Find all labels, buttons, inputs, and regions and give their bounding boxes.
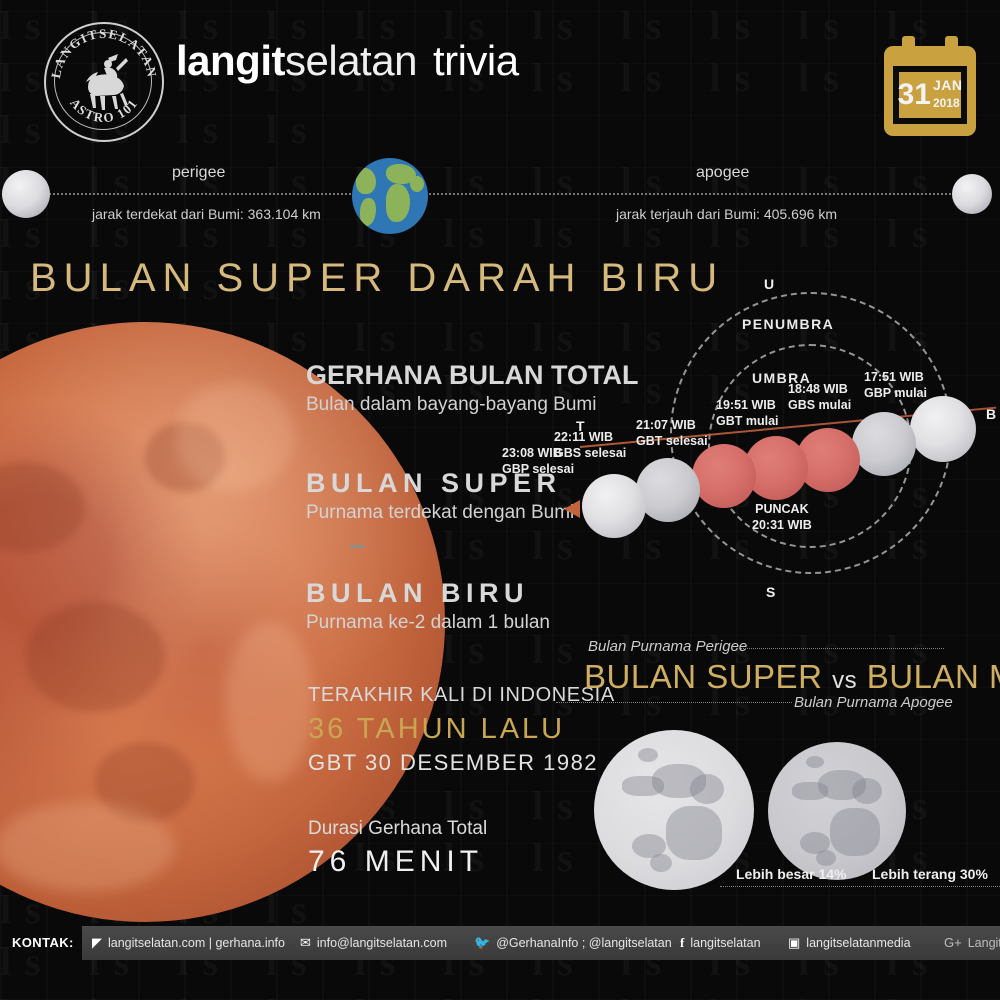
footer-item-googleplus[interactable]: G+ LangitselatanMedia (944, 935, 1000, 950)
cardinal-south: S (766, 584, 775, 600)
kontak-label: KONTAK: (12, 935, 74, 950)
twitter-icon: 🐦 (474, 935, 490, 951)
svm-top-caption: Bulan Purnama Perigee (588, 638, 747, 655)
footer-item-website[interactable]: ◤ langitselatan.com | gerhana.info (92, 935, 285, 951)
footer-twitter-text: @GerhanaInfo ; @langitselatan (496, 936, 671, 950)
super-vs-mini-section: Bulan Purnama Perigee BULAN SUPER vs BUL… (556, 636, 1000, 906)
calendar-icon: 31 JAN 2018 (884, 36, 976, 136)
calendar-month: JAN (933, 77, 963, 93)
facebook-icon: f (680, 935, 684, 951)
eclipse-path-diagram: U S B T PENUMBRA UMBRA 17:51 WIBGBP mula… (556, 278, 1000, 608)
calendar-date-plate: 31 JAN 2018 (899, 72, 961, 118)
brand-trivia: trivia (433, 37, 519, 84)
mail-icon: ✉ (300, 935, 311, 951)
calendar-month-year: JAN 2018 (933, 78, 963, 112)
header: LANGITSELATAN ASTRO 101 la (0, 0, 1000, 148)
footer-website-text: langitselatan.com | gerhana.info (108, 936, 285, 950)
fact-2-sub: Purnama ke-2 dalam 1 bulan (306, 612, 550, 634)
stat-brightness: Lebih terang 30% (872, 866, 988, 882)
footer-item-instagram[interactable]: ▣ langitselatanmedia (788, 935, 911, 951)
eclipse-label-19-51: 19:51 WIBGBT mulai (716, 398, 779, 429)
footer-contact-bar: KONTAK: ◤ langitselatan.com | gerhana.in… (0, 926, 1000, 960)
eclipse-label-17-51: 17:51 WIBGBP mulai (864, 370, 927, 401)
sagittarius-centaur-icon (78, 50, 130, 112)
calendar-year: 2018 (933, 96, 960, 110)
footer-facebook-text: langitselatan (690, 936, 760, 950)
brand-langit: langit (176, 37, 285, 84)
duration-block: Durasi Gerhana Total 76 MENIT (308, 818, 487, 879)
calendar-body: 31 JAN 2018 (884, 46, 976, 136)
svm-bottom-caption: Bulan Purnama Apogee (794, 694, 953, 711)
earth-icon (352, 158, 428, 234)
divider-dash (350, 545, 364, 548)
duration-label: Durasi Gerhana Total (308, 818, 487, 840)
duration-value: 76 MENIT (308, 845, 487, 879)
super-moon-illustration (594, 730, 754, 890)
apogee-label: apogee (696, 164, 749, 182)
perigee-apogee-strip: perigee apogee jarak terdekat dari Bumi:… (0, 150, 1000, 260)
moon-path-arrow-icon (564, 500, 580, 518)
calendar-day: 31 (898, 80, 931, 110)
googleplus-icon: G+ (944, 935, 962, 950)
perigee-distance: jarak terdekat dari Bumi: 363.104 km (92, 206, 321, 222)
footer-item-email[interactable]: ✉ info@langitselatan.com (300, 935, 447, 951)
fact-bulan-biru: BULAN BIRU Purnama ke-2 dalam 1 bulan (306, 578, 550, 634)
svm-title-left: BULAN SUPER (584, 658, 822, 695)
cardinal-north: U (764, 276, 774, 292)
apogee-distance: jarak terjauh dari Bumi: 405.696 km (616, 206, 837, 222)
penumbra-label: PENUMBRA (742, 316, 834, 332)
perigee-label: perigee (172, 164, 225, 182)
svm-title-right: BULAN MINI (867, 658, 1000, 695)
eclipse-moon-17-51 (910, 396, 976, 462)
eclipse-moon-22-11 (636, 458, 700, 522)
perigee-moon-icon (2, 170, 50, 218)
footer-email-text: info@langitselatan.com (317, 936, 447, 950)
footer-item-facebook[interactable]: f langitselatan (680, 935, 761, 951)
eclipse-label-18-48: 18:48 WIBGBS mulai (788, 382, 851, 413)
instagram-icon: ▣ (788, 935, 800, 951)
svm-title-vs: vs (832, 667, 857, 694)
eclipse-label-23-08: 23:08 WIBGBP selesai (502, 446, 574, 477)
brand-wordmark: langitselatantrivia (176, 40, 519, 82)
rss-icon: ◤ (92, 935, 102, 951)
brand-selatan: selatan (285, 37, 417, 84)
infographic-page: ls ls ls ls ls ls ls ls ls ls ls ls ls l… (0, 0, 1000, 1000)
footer-googleplus-text: LangitselatanMedia (968, 936, 1000, 950)
eclipse-moon-18-48 (852, 412, 916, 476)
eclipse-peak-label: PUNCAK20:31 WIB (752, 502, 812, 533)
mini-moon-illustration (768, 742, 906, 880)
fact-2-heading: BULAN BIRU (306, 578, 550, 609)
eclipse-label-21-07: 21:07 WIBGBT selesai (636, 418, 708, 449)
fact-1-sub: Purnama terdekat dengan Bumi (306, 502, 574, 524)
orbit-dotted-line (18, 193, 982, 195)
footer-instagram-text: langitselatanmedia (806, 936, 910, 950)
langitselatan-logo[interactable]: LANGITSELATAN ASTRO 101 (44, 22, 164, 142)
stat-size: Lebih besar 14% (736, 866, 847, 882)
eclipse-moon-23-08 (582, 474, 646, 538)
eclipse-moon-21-07 (692, 444, 756, 508)
footer-item-twitter[interactable]: 🐦 @GerhanaInfo ; @langitselatan (474, 935, 672, 951)
footer-bar: ◤ langitselatan.com | gerhana.info ✉ inf… (82, 926, 1000, 960)
svm-title: BULAN SUPER vs BULAN MINI (584, 658, 1000, 696)
apogee-moon-icon (952, 174, 992, 214)
